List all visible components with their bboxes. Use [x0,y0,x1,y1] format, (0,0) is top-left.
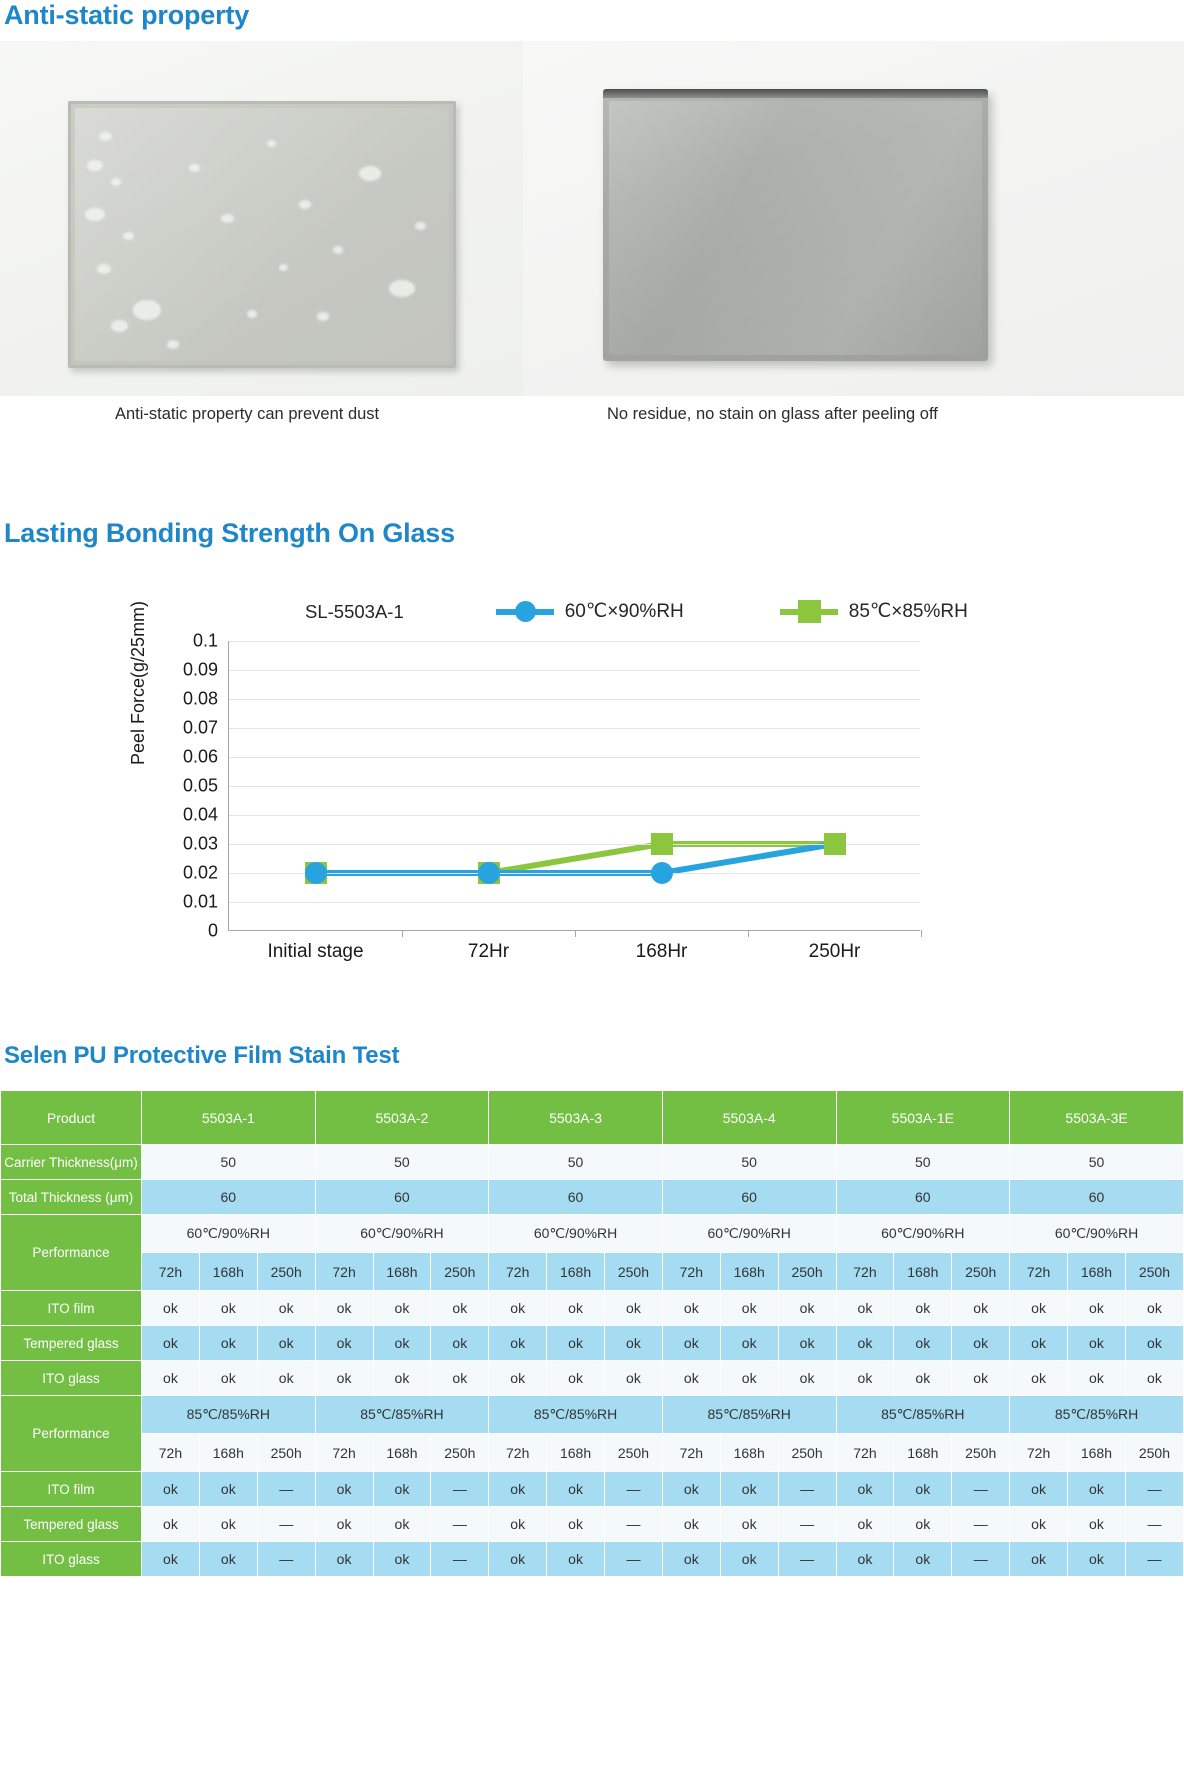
chart-y-tick-label: 0.03 [138,834,218,855]
table-cell-result-2-tempered-glass-7: ok [489,1507,547,1542]
chart-gridline [229,815,920,816]
table-cell-row-label-carrier-thickness: Carrier Thickness(μm) [1,1145,142,1180]
table-cell-total-1: 60 [142,1180,316,1215]
table-cell-timepoint-2-5-3: 250h [952,1434,1010,1472]
table-cell-result-1-ito-film-8: ok [547,1291,605,1326]
table-cell-result-2-ito-glass-12: — [778,1542,836,1577]
table-cell-timepoint-1-3-1: 72h [489,1253,547,1291]
chart-x-tick-mark [402,930,403,937]
legend-label-60c: 60℃×90%RH [565,600,684,623]
table-row-performance-condition-2: Performance85℃/85%RH85℃/85%RH85℃/85%RH85… [1,1396,1184,1434]
table-cell-result-1-ito-glass-5: ok [373,1361,431,1396]
table-cell-result-1-ito-glass-6: ok [431,1361,489,1396]
table-cell-result-1-tempered-glass-14: ok [894,1326,952,1361]
table-cell-result-2-ito-film-9: — [605,1472,663,1507]
table-cell-condition-1-1: 60℃/90%RH [142,1215,316,1253]
page-title-anti-static: Anti-static property [2,0,249,31]
table-cell-result-1-tempered-glass-18: ok [1125,1326,1183,1361]
table-cell-result-2-tempered-glass-1: ok [142,1507,200,1542]
table-row-time-points-1: 72h168h250h72h168h250h72h168h250h72h168h… [1,1253,1184,1291]
chart-data-point-green [824,833,846,855]
table-cell-result-2-ito-film-15: — [952,1472,1010,1507]
table-cell-result-2-ito-glass-9: — [605,1542,663,1577]
table-cell-result-1-ito-glass-8: ok [547,1361,605,1396]
table-cell-result-2-ito-film-11: ok [720,1472,778,1507]
table-cell-product-5: 5503A-1E [836,1091,1010,1145]
table-cell-condition-2-3: 85℃/85%RH [489,1396,663,1434]
table-cell-result-2-ito-glass-7: ok [489,1542,547,1577]
table-cell-timepoint-2-4-2: 168h [720,1434,778,1472]
table-cell-timepoint-1-5-3: 250h [952,1253,1010,1291]
chart-data-point-blue [478,862,500,884]
chart-y-tick-label: 0.05 [138,776,218,797]
table-cell-result-1-ito-film-18: ok [1125,1291,1183,1326]
table-cell-result-2-ito-film-7: ok [489,1472,547,1507]
circle-marker-icon [515,601,536,622]
chart-x-tick-mark [921,930,922,937]
table-cell-result-1-ito-film-11: ok [720,1291,778,1326]
table-cell-timepoint-1-1-3: 250h [257,1253,315,1291]
table-cell-result-2-tempered-glass-2: ok [199,1507,257,1542]
chart-y-tick-label: 0.02 [138,863,218,884]
table-cell-result-2-ito-glass-13: ok [836,1542,894,1577]
table-cell-result-2-tempered-glass-9: — [605,1507,663,1542]
table-cell-condition-2-1: 85℃/85%RH [142,1396,316,1434]
anti-static-photo-band [0,41,1184,396]
table-cell-condition-1-5: 60℃/90%RH [836,1215,1010,1253]
table-cell-result-1-tempered-glass-6: ok [431,1326,489,1361]
table-cell-row-label-performance-1: Performance [1,1215,142,1291]
table-cell-result-2-ito-film-18: — [1125,1472,1183,1507]
table-cell-result-2-tempered-glass-6: — [431,1507,489,1542]
table-cell-result-1-ito-glass-1: ok [142,1361,200,1396]
chart-gridline [229,728,920,729]
table-cell-result-1-ito-glass-4: ok [315,1361,373,1396]
table-cell-result-2-ito-film-16: ok [1010,1472,1068,1507]
table-cell-timepoint-1-4-1: 72h [662,1253,720,1291]
table-cell-result-2-ito-film-8: ok [547,1472,605,1507]
table-cell-result-1-ito-film-13: ok [836,1291,894,1326]
table-cell-result-1-ito-film-14: ok [894,1291,952,1326]
table-cell-condition-2-5: 85℃/85%RH [836,1396,1010,1434]
chart-data-point-blue [651,862,673,884]
table-cell-result-1-ito-glass-13: ok [836,1361,894,1396]
table-cell-timepoint-1-6-2: 168h [1068,1253,1126,1291]
table-cell-timepoint-2-5-2: 168h [894,1434,952,1472]
table-cell-result-1-tempered-glass-7: ok [489,1326,547,1361]
table-cell-result-1-tempered-glass-3: ok [257,1326,315,1361]
table-cell-row-label-ito-film-2: ITO film [1,1472,142,1507]
table-cell-carrier-4: 50 [662,1145,836,1180]
table-cell-condition-1-6: 60℃/90%RH [1010,1215,1184,1253]
table-cell-result-1-ito-glass-2: ok [199,1361,257,1396]
table-cell-result-1-ito-glass-11: ok [720,1361,778,1396]
table-cell-timepoint-2-2-2: 168h [373,1434,431,1472]
table-cell-condition-1-3: 60℃/90%RH [489,1215,663,1253]
table-cell-timepoint-1-4-3: 250h [778,1253,836,1291]
chart-gridline [229,873,920,874]
table-cell-timepoint-1-2-1: 72h [315,1253,373,1291]
table-cell-timepoint-2-6-1: 72h [1010,1434,1068,1472]
table-cell-result-1-ito-film-3: ok [257,1291,315,1326]
table-row-total-thickness: Total Thickness (μm)606060606060 [1,1180,1184,1215]
chart-y-tick-label: 0 [138,921,218,942]
chart-y-tick-label: 0.01 [138,892,218,913]
table-cell-result-2-ito-film-13: ok [836,1472,894,1507]
photo-dusty-film [0,41,578,396]
table-cell-carrier-1: 50 [142,1145,316,1180]
table-cell-product-3: 5503A-3 [489,1091,663,1145]
table-cell-result-1-ito-film-15: ok [952,1291,1010,1326]
legend-swatch-blue-line [496,609,554,615]
table-cell-timepoint-2-3-2: 168h [547,1434,605,1472]
table-cell-result-1-tempered-glass-11: ok [720,1326,778,1361]
photo-clean-glass [523,41,1184,396]
table-cell-result-1-tempered-glass-1: ok [142,1326,200,1361]
table-cell-result-2-ito-glass-10: ok [662,1542,720,1577]
table-cell-condition-2-4: 85℃/85%RH [662,1396,836,1434]
table-cell-result-2-tempered-glass-14: ok [894,1507,952,1542]
table-cell-result-1-ito-film-2: ok [199,1291,257,1326]
table-cell-result-2-ito-glass-2: ok [199,1542,257,1577]
table-row-performance-condition-1: Performance60℃/90%RH60℃/90%RH60℃/90%RH60… [1,1215,1184,1253]
table-cell-result-2-ito-film-2: ok [199,1472,257,1507]
table-cell-result-1-tempered-glass-9: ok [605,1326,663,1361]
table-cell-timepoint-1-1-2: 168h [199,1253,257,1291]
table-cell-timepoint-2-2-3: 250h [431,1434,489,1472]
table-cell-result-2-tempered-glass-4: ok [315,1507,373,1542]
table-cell-result-2-ito-film-3: — [257,1472,315,1507]
page-title-stain-test: Selen PU Protective Film Stain Test [2,1042,399,1070]
table-cell-result-1-tempered-glass-8: ok [547,1326,605,1361]
chart-x-tick-mark [748,930,749,937]
table-cell-total-4: 60 [662,1180,836,1215]
table-cell-result-1-tempered-glass-2: ok [199,1326,257,1361]
table-cell-result-2-ito-film-1: ok [142,1472,200,1507]
table-cell-result-2-ito-glass-1: ok [142,1542,200,1577]
table-cell-result-2-ito-glass-8: ok [547,1542,605,1577]
table-cell-result-1-tempered-glass-5: ok [373,1326,431,1361]
table-cell-result-2-ito-glass-15: — [952,1542,1010,1577]
chart-y-tick-label: 0.09 [138,660,218,681]
stain-test-table: Product5503A-15503A-25503A-35503A-45503A… [0,1090,1184,1577]
table-cell-timepoint-1-5-1: 72h [836,1253,894,1291]
chart-x-tick-label: 72Hr [468,941,509,963]
chart-gridline [229,844,920,845]
table-row-product-header: Product5503A-15503A-25503A-35503A-45503A… [1,1091,1184,1145]
table-cell-timepoint-2-4-1: 72h [662,1434,720,1472]
table-cell-result-1-ito-glass-9: ok [605,1361,663,1396]
table-cell-carrier-2: 50 [315,1145,489,1180]
table-cell-result-1-ito-film-12: ok [778,1291,836,1326]
table-cell-timepoint-2-3-1: 72h [489,1434,547,1472]
table-cell-result-2-ito-film-4: ok [315,1472,373,1507]
table-cell-product-2: 5503A-2 [315,1091,489,1145]
table-cell-result-2-tempered-glass-18: — [1125,1507,1183,1542]
table-cell-result-1-tempered-glass-16: ok [1010,1326,1068,1361]
table-cell-condition-1-4: 60℃/90%RH [662,1215,836,1253]
table-cell-result-1-ito-film-5: ok [373,1291,431,1326]
table-cell-timepoint-1-4-2: 168h [720,1253,778,1291]
chart-x-tick-mark [575,930,576,937]
table-cell-timepoint-1-5-2: 168h [894,1253,952,1291]
table-cell-result-2-tempered-glass-10: ok [662,1507,720,1542]
table-cell-total-2: 60 [315,1180,489,1215]
legend-item-85c: 85℃×85%RH [780,600,968,623]
table-cell-carrier-5: 50 [836,1145,1010,1180]
table-row-ito-glass-1: ITO glassokokokokokokokokokokokokokokoko… [1,1361,1184,1396]
chart-legend: SL-5503A-1 60℃×90%RH 85℃×85%RH [305,600,1064,623]
table-cell-row-label-performance-2: Performance [1,1396,142,1472]
table-row-ito-glass-2: ITO glassokok—okok—okok—okok—okok—okok— [1,1542,1184,1577]
table-cell-result-2-tempered-glass-17: ok [1068,1507,1126,1542]
table-cell-result-1-tempered-glass-17: ok [1068,1326,1126,1361]
table-cell-result-1-tempered-glass-15: ok [952,1326,1010,1361]
square-marker-icon [798,600,821,623]
legend-label-85c: 85℃×85%RH [849,600,968,623]
table-cell-timepoint-2-1-1: 72h [142,1434,200,1472]
table-cell-timepoint-2-2-1: 72h [315,1434,373,1472]
chart-data-point-blue [305,862,327,884]
table-cell-result-1-ito-film-6: ok [431,1291,489,1326]
table-cell-carrier-6: 50 [1010,1145,1184,1180]
table-cell-result-2-ito-film-5: ok [373,1472,431,1507]
table-cell-result-1-ito-glass-12: ok [778,1361,836,1396]
table-cell-result-1-ito-film-16: ok [1010,1291,1068,1326]
table-cell-row-label-product: Product [1,1091,142,1145]
table-cell-timepoint-1-2-3: 250h [431,1253,489,1291]
page-title-bonding-strength: Lasting Bonding Strength On Glass [2,518,455,549]
chart-y-tick-label: 0.07 [138,718,218,739]
table-cell-result-2-tempered-glass-11: ok [720,1507,778,1542]
table-cell-condition-2-2: 85℃/85%RH [315,1396,489,1434]
table-cell-timepoint-2-6-2: 168h [1068,1434,1126,1472]
table-cell-row-label-tempered-glass-1: Tempered glass [1,1326,142,1361]
table-cell-result-2-ito-film-6: — [431,1472,489,1507]
table-cell-result-1-tempered-glass-10: ok [662,1326,720,1361]
table-cell-result-1-tempered-glass-12: ok [778,1326,836,1361]
chart-y-axis-ticks: 0.10.090.080.070.060.050.040.030.020.010 [132,641,218,931]
table-cell-result-1-ito-film-10: ok [662,1291,720,1326]
table-cell-result-2-ito-film-17: ok [1068,1472,1126,1507]
chart-x-tick-label: 250Hr [809,941,861,963]
table-cell-condition-1-2: 60℃/90%RH [315,1215,489,1253]
table-cell-result-2-ito-glass-4: ok [315,1542,373,1577]
table-row-ito-film-1: ITO filmokokokokokokokokokokokokokokokok… [1,1291,1184,1326]
table-cell-result-2-tempered-glass-12: — [778,1507,836,1542]
table-cell-result-2-tempered-glass-3: — [257,1507,315,1542]
table-cell-condition-2-6: 85℃/85%RH [1010,1396,1184,1434]
chart-gridline [229,757,920,758]
table-cell-result-2-ito-glass-5: ok [373,1542,431,1577]
table-cell-result-1-ito-film-7: ok [489,1291,547,1326]
table-cell-result-1-ito-glass-15: ok [952,1361,1010,1396]
chart-x-tick-label: 168Hr [636,941,688,963]
table-row-carrier-thickness: Carrier Thickness(μm)505050505050 [1,1145,1184,1180]
table-cell-result-2-ito-film-10: ok [662,1472,720,1507]
chart-y-tick-label: 0.04 [138,805,218,826]
chart-gridline [229,641,920,642]
table-cell-timepoint-1-3-3: 250h [605,1253,663,1291]
table-cell-timepoint-2-1-2: 168h [199,1434,257,1472]
table-cell-timepoint-1-2-2: 168h [373,1253,431,1291]
table-cell-result-1-tempered-glass-4: ok [315,1326,373,1361]
table-cell-row-label-ito-glass-1: ITO glass [1,1361,142,1396]
table-cell-result-1-ito-film-4: ok [315,1291,373,1326]
table-cell-total-3: 60 [489,1180,663,1215]
table-cell-result-1-tempered-glass-13: ok [836,1326,894,1361]
table-cell-result-2-ito-glass-17: ok [1068,1542,1126,1577]
chart-y-tick-label: 0.08 [138,689,218,710]
table-cell-result-2-ito-film-14: ok [894,1472,952,1507]
table-row-tempered-glass-1: Tempered glassokokokokokokokokokokokokok… [1,1326,1184,1361]
chart-gridline [229,699,920,700]
legend-swatch-green-line [780,609,838,615]
glass-panel-clean [603,89,988,361]
chart-gridline [229,902,920,903]
table-row-ito-film-2: ITO filmokok—okok—okok—okok—okok—okok— [1,1472,1184,1507]
chart-gridline [229,786,920,787]
table-cell-result-1-ito-glass-16: ok [1010,1361,1068,1396]
table-cell-timepoint-1-6-3: 250h [1125,1253,1183,1291]
table-cell-total-5: 60 [836,1180,1010,1215]
table-cell-result-1-ito-glass-17: ok [1068,1361,1126,1396]
table-cell-result-1-ito-film-1: ok [142,1291,200,1326]
table-cell-timepoint-2-1-3: 250h [257,1434,315,1472]
table-cell-result-2-ito-glass-3: — [257,1542,315,1577]
table-cell-result-1-ito-glass-7: ok [489,1361,547,1396]
chart-y-tick-label: 0.06 [138,747,218,768]
table-cell-row-label-tempered-glass-2: Tempered glass [1,1507,142,1542]
protective-film-sheet-dusty [68,101,456,368]
peel-force-chart: SL-5503A-1 60℃×90%RH 85℃×85%RH Peel Forc… [0,565,1184,995]
table-cell-total-6: 60 [1010,1180,1184,1215]
chart-gridline [229,670,920,671]
legend-product-label: SL-5503A-1 [305,601,404,623]
table-cell-result-2-ito-glass-14: ok [894,1542,952,1577]
table-cell-result-2-tempered-glass-16: ok [1010,1507,1068,1542]
table-cell-timepoint-1-6-1: 72h [1010,1253,1068,1291]
chart-plot-area: Initial stage72Hr168Hr250Hr [228,641,920,931]
caption-no-residue: No residue, no stain on glass after peel… [607,405,938,424]
table-cell-result-2-tempered-glass-15: — [952,1507,1010,1542]
table-row-tempered-glass-2: Tempered glassokok—okok—okok—okok—okok—o… [1,1507,1184,1542]
table-cell-timepoint-2-6-3: 250h [1125,1434,1183,1472]
table-row-time-points-2: 72h168h250h72h168h250h72h168h250h72h168h… [1,1434,1184,1472]
chart-x-tick-label: Initial stage [267,941,363,963]
table-cell-result-2-ito-glass-11: ok [720,1542,778,1577]
table-cell-product-1: 5503A-1 [142,1091,316,1145]
table-cell-timepoint-1-1-1: 72h [142,1253,200,1291]
table-cell-result-2-ito-film-12: — [778,1472,836,1507]
table-cell-carrier-3: 50 [489,1145,663,1180]
table-cell-result-1-ito-glass-18: ok [1125,1361,1183,1396]
table-cell-row-label-total-thickness: Total Thickness (μm) [1,1180,142,1215]
table-cell-row-label-ito-glass-2: ITO glass [1,1542,142,1577]
table-cell-timepoint-2-3-3: 250h [605,1434,663,1472]
table-cell-product-4: 5503A-4 [662,1091,836,1145]
table-cell-timepoint-2-4-3: 250h [778,1434,836,1472]
caption-anti-static-dust: Anti-static property can prevent dust [115,405,379,424]
table-cell-product-6: 5503A-3E [1010,1091,1184,1145]
table-cell-row-label-ito-film-1: ITO film [1,1291,142,1326]
table-cell-result-2-ito-glass-16: ok [1010,1542,1068,1577]
table-cell-result-2-tempered-glass-13: ok [836,1507,894,1542]
table-cell-result-1-ito-film-9: ok [605,1291,663,1326]
table-cell-result-1-ito-glass-10: ok [662,1361,720,1396]
table-cell-timepoint-1-3-2: 168h [547,1253,605,1291]
chart-data-point-green [651,833,673,855]
table-cell-result-1-ito-glass-3: ok [257,1361,315,1396]
table-cell-result-1-ito-film-17: ok [1068,1291,1126,1326]
table-cell-result-2-tempered-glass-5: ok [373,1507,431,1542]
table-cell-result-1-ito-glass-14: ok [894,1361,952,1396]
table-cell-result-2-tempered-glass-8: ok [547,1507,605,1542]
table-cell-result-2-ito-glass-6: — [431,1542,489,1577]
chart-y-tick-label: 0.1 [138,631,218,652]
legend-item-60c: 60℃×90%RH [496,600,684,623]
table-cell-result-2-ito-glass-18: — [1125,1542,1183,1577]
table-cell-timepoint-2-5-1: 72h [836,1434,894,1472]
